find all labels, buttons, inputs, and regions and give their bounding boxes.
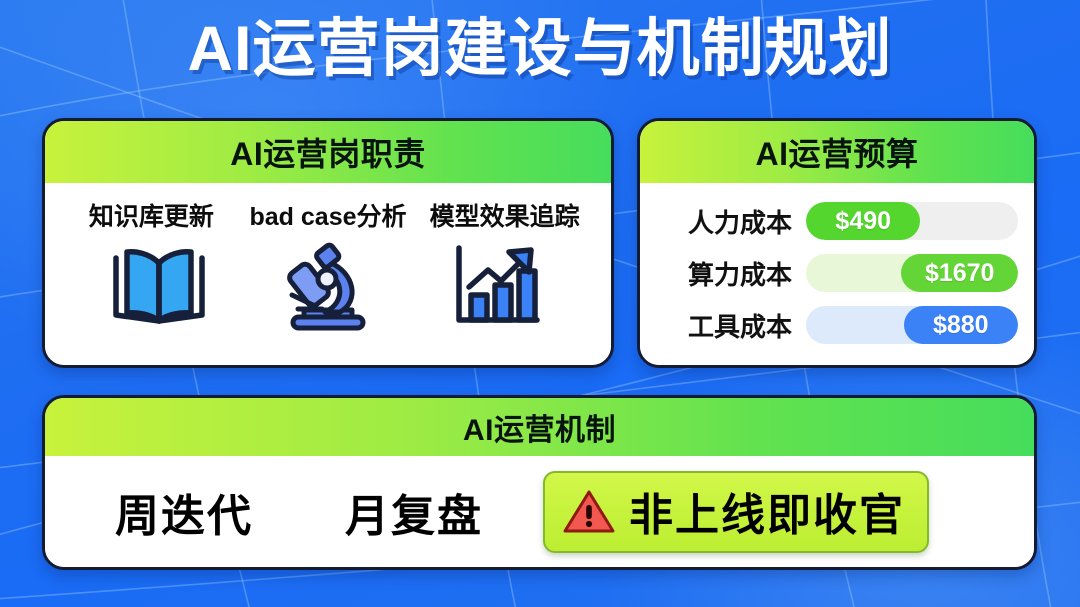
budget-card-header: AI运营预算 bbox=[640, 121, 1034, 183]
duty-icons-row bbox=[45, 233, 611, 331]
bar-chart-up-icon bbox=[412, 239, 581, 331]
open-book-icon bbox=[75, 239, 244, 331]
budget-card-body: 人力成本 $490 算力成本 $1670 工具成本 $880 bbox=[640, 183, 1034, 368]
infographic-canvas: AI运营岗建设与机制规划 AI运营岗职责 知识库更新 bad case分析 模型… bbox=[0, 0, 1080, 607]
budget-value-tools: $880 bbox=[904, 306, 1018, 344]
budget-row-tools: 工具成本 $880 bbox=[654, 299, 1018, 351]
budget-row-labor: 人力成本 $490 bbox=[654, 195, 1018, 247]
card-ai-operations-mechanism: AI运营机制 周迭代 月复盘 非上线即收官 bbox=[42, 395, 1037, 570]
duties-card-body: 知识库更新 bad case分析 模型效果追踪 bbox=[45, 183, 611, 368]
budget-track-labor: $490 bbox=[806, 202, 1018, 240]
duty-labels-row: 知识库更新 bad case分析 模型效果追踪 bbox=[45, 183, 611, 233]
budget-value-labor: $490 bbox=[806, 202, 920, 240]
mechanism-badge-text: 非上线即收官 bbox=[629, 479, 905, 543]
duties-card-header: AI运营岗职责 bbox=[45, 121, 611, 183]
mechanism-items-row: 周迭代 月复盘 非上线即收官 bbox=[45, 456, 1034, 568]
budget-rows: 人力成本 $490 算力成本 $1670 工具成本 $880 bbox=[640, 183, 1034, 351]
duty-label-knowledge-base: 知识库更新 bbox=[63, 197, 240, 233]
mechanism-item-weekly-iteration: 周迭代 bbox=[115, 480, 253, 544]
budget-label-labor: 人力成本 bbox=[654, 203, 806, 240]
mechanism-highlight-badge: 非上线即收官 bbox=[543, 471, 929, 553]
duty-label-bad-case: bad case分析 bbox=[240, 197, 417, 233]
page-title: AI运营岗建设与机制规划 bbox=[0, 16, 1080, 82]
warning-triangle-icon bbox=[563, 488, 615, 534]
budget-label-tools: 工具成本 bbox=[654, 307, 806, 344]
budget-label-compute: 算力成本 bbox=[654, 255, 806, 292]
card-ai-operations-duties: AI运营岗职责 知识库更新 bad case分析 模型效果追踪 bbox=[42, 118, 614, 368]
microscope-icon bbox=[244, 239, 413, 331]
budget-track-tools: $880 bbox=[806, 306, 1018, 344]
mechanism-card-header: AI运营机制 bbox=[45, 398, 1034, 456]
duty-label-model-tracking: 模型效果追踪 bbox=[416, 197, 593, 233]
budget-track-compute: $1670 bbox=[806, 254, 1018, 292]
mechanism-item-monthly-review: 月复盘 bbox=[345, 480, 483, 544]
budget-row-compute: 算力成本 $1670 bbox=[654, 247, 1018, 299]
card-ai-operations-budget: AI运营预算 人力成本 $490 算力成本 $1670 工具成本 bbox=[637, 118, 1037, 368]
mechanism-card-body: 周迭代 月复盘 非上线即收官 bbox=[45, 456, 1034, 570]
budget-value-compute: $1670 bbox=[901, 254, 1018, 292]
